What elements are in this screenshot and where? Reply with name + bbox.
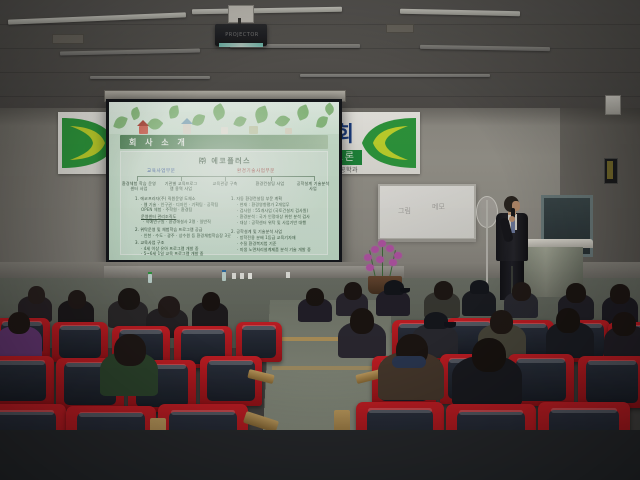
org-box: 기관별 교육프로그램 용역 사업	[163, 181, 199, 191]
bottle-cap	[148, 272, 152, 274]
ceiling-light-fixture	[420, 45, 550, 51]
ceiling-vent	[386, 24, 414, 33]
cap-brim	[400, 288, 410, 293]
audience-head	[350, 308, 374, 334]
slide-company-name: ㈜ 에코플러스	[121, 156, 329, 166]
auditorium-photo: PROJECTOR 200 우수취업 일시 2009. 수회 전학토론 학교 환…	[0, 0, 640, 480]
foreground-shadow	[0, 430, 640, 480]
whiteboard: 그림 메모	[380, 186, 474, 238]
wall-speaker	[605, 95, 621, 115]
audience-head	[158, 296, 180, 318]
audience-head	[118, 288, 140, 310]
audience-head	[566, 283, 586, 303]
org-header-right: 환경기술사업부문	[237, 168, 275, 174]
audience-head	[556, 308, 580, 333]
auditorium-seat	[578, 356, 640, 408]
whiteboard-mark: 그림	[398, 206, 411, 216]
slide-bullet: · 수질 환경복지법 기준	[237, 241, 277, 246]
audience-head	[202, 292, 220, 311]
audience-head	[490, 310, 513, 334]
audience-head	[8, 312, 30, 334]
cup	[286, 272, 290, 278]
audience-head	[344, 282, 362, 300]
org-box: 교육관광 구축	[207, 181, 243, 186]
ceiling-light-fixture	[192, 7, 342, 15]
slide-bullet: · 5~6세 1일 교육 프로그램 개발 중	[141, 251, 204, 256]
ceiling-light-fixture	[300, 74, 490, 77]
ceiling-light-fixture	[8, 12, 186, 24]
ceiling-light-fixture	[60, 49, 200, 56]
audience-head	[472, 338, 506, 372]
audience-head	[610, 284, 630, 304]
aisle-step-edge	[272, 366, 384, 370]
auditorium-seat	[200, 356, 262, 406]
projector-label: PROJECTOR	[222, 31, 262, 39]
water-bottle	[222, 272, 226, 281]
projection-screen: 회 사 소 개 ㈜ 에코플러스 교육사업부문 환경기술사업부문 환경체험 학습 …	[109, 102, 339, 260]
ceiling-light-fixture	[400, 9, 520, 17]
org-box: 공학설계 기술분석 사업	[295, 181, 331, 191]
slide-house-icon	[183, 124, 191, 134]
slide-bullet: 2. 공학설계 및 기술분석 사업	[231, 229, 282, 234]
audience-head	[68, 290, 86, 309]
slide-title: 회 사 소 개	[129, 136, 188, 149]
cap-brim	[444, 322, 456, 328]
audience-collar	[392, 356, 426, 368]
slide-house-icon	[221, 127, 228, 134]
projector-lens	[219, 43, 263, 47]
org-header-left: 교육사업부문	[147, 168, 175, 174]
ceiling-light-fixture	[90, 76, 210, 79]
slide-content: ㈜ 에코플러스 교육사업부문 환경기술사업부문 환경체험 학습 운영센터 사업 …	[120, 151, 328, 255]
slide-house-icon	[249, 126, 258, 134]
whiteboard-mark: 메모	[432, 202, 445, 212]
cup	[232, 273, 236, 279]
audience-head	[306, 288, 324, 306]
slide-bullet: · 인천 · 수도 · 광주 · 상수원 등 환경체험학습장 3곳	[141, 233, 231, 238]
presenter-hand	[509, 216, 515, 222]
banner-logo-swoosh-right	[356, 114, 418, 172]
audience-cap	[470, 280, 489, 294]
projector-mount	[228, 5, 254, 23]
slide-bullet: OPEN 체험 · 주학원 · 환경팀	[141, 207, 192, 212]
audience-head	[114, 334, 146, 366]
audience-head	[612, 312, 636, 336]
slide-bullet: · 검사원 : 55개사업 (국토건설지 검사원)	[237, 208, 308, 213]
org-box: 환경체험 학습 운영센터 사업	[121, 181, 157, 191]
water-bottle	[148, 274, 152, 283]
slide-bullet: · 대상 : 공학센터 위탁 및 사업기반 대행	[237, 220, 306, 225]
mic-stand	[486, 200, 488, 286]
audience-head	[434, 281, 453, 300]
slide-bullet: · 현재 : 환경영향평가 2개업무	[237, 202, 290, 207]
auditorium-seat	[52, 322, 108, 362]
slide-bullet: · 환경분석 : 국가 인정대상 위한 분석 검사	[237, 214, 310, 219]
slide-bullet: 2. 위탁운영 및 체험학습 프로그램 공급	[135, 227, 203, 232]
cup	[248, 273, 252, 279]
slide-bullet: · 학예연구원 · 환경해설사 2명 · 일반직	[143, 219, 211, 224]
audience-head	[512, 282, 531, 301]
auditorium-seat	[0, 356, 54, 406]
audience-head	[28, 286, 45, 304]
slide-house-icon	[139, 126, 148, 134]
org-box: 환경컨설팅 사업	[252, 181, 288, 186]
slide-bullet: · 미생 노면처리설계제품 분석 기술 개발 중	[237, 247, 311, 252]
slide-bullet: · 방학전용 분배 1등급 교육기자재	[237, 235, 296, 240]
org-connector	[137, 176, 315, 177]
bottle-cap	[222, 270, 226, 272]
ceiling-vent	[52, 34, 84, 44]
slide-bullet: 1. 에코프라자(주) 직원운영 도체소	[135, 196, 196, 201]
slide-bullet: 1. 자동 환경컨설팅 부문 계획	[231, 196, 282, 201]
cup	[240, 273, 244, 279]
slide-bullet: 3. 교육사업 구조	[135, 240, 164, 245]
wall-panel-indicator	[607, 161, 613, 179]
